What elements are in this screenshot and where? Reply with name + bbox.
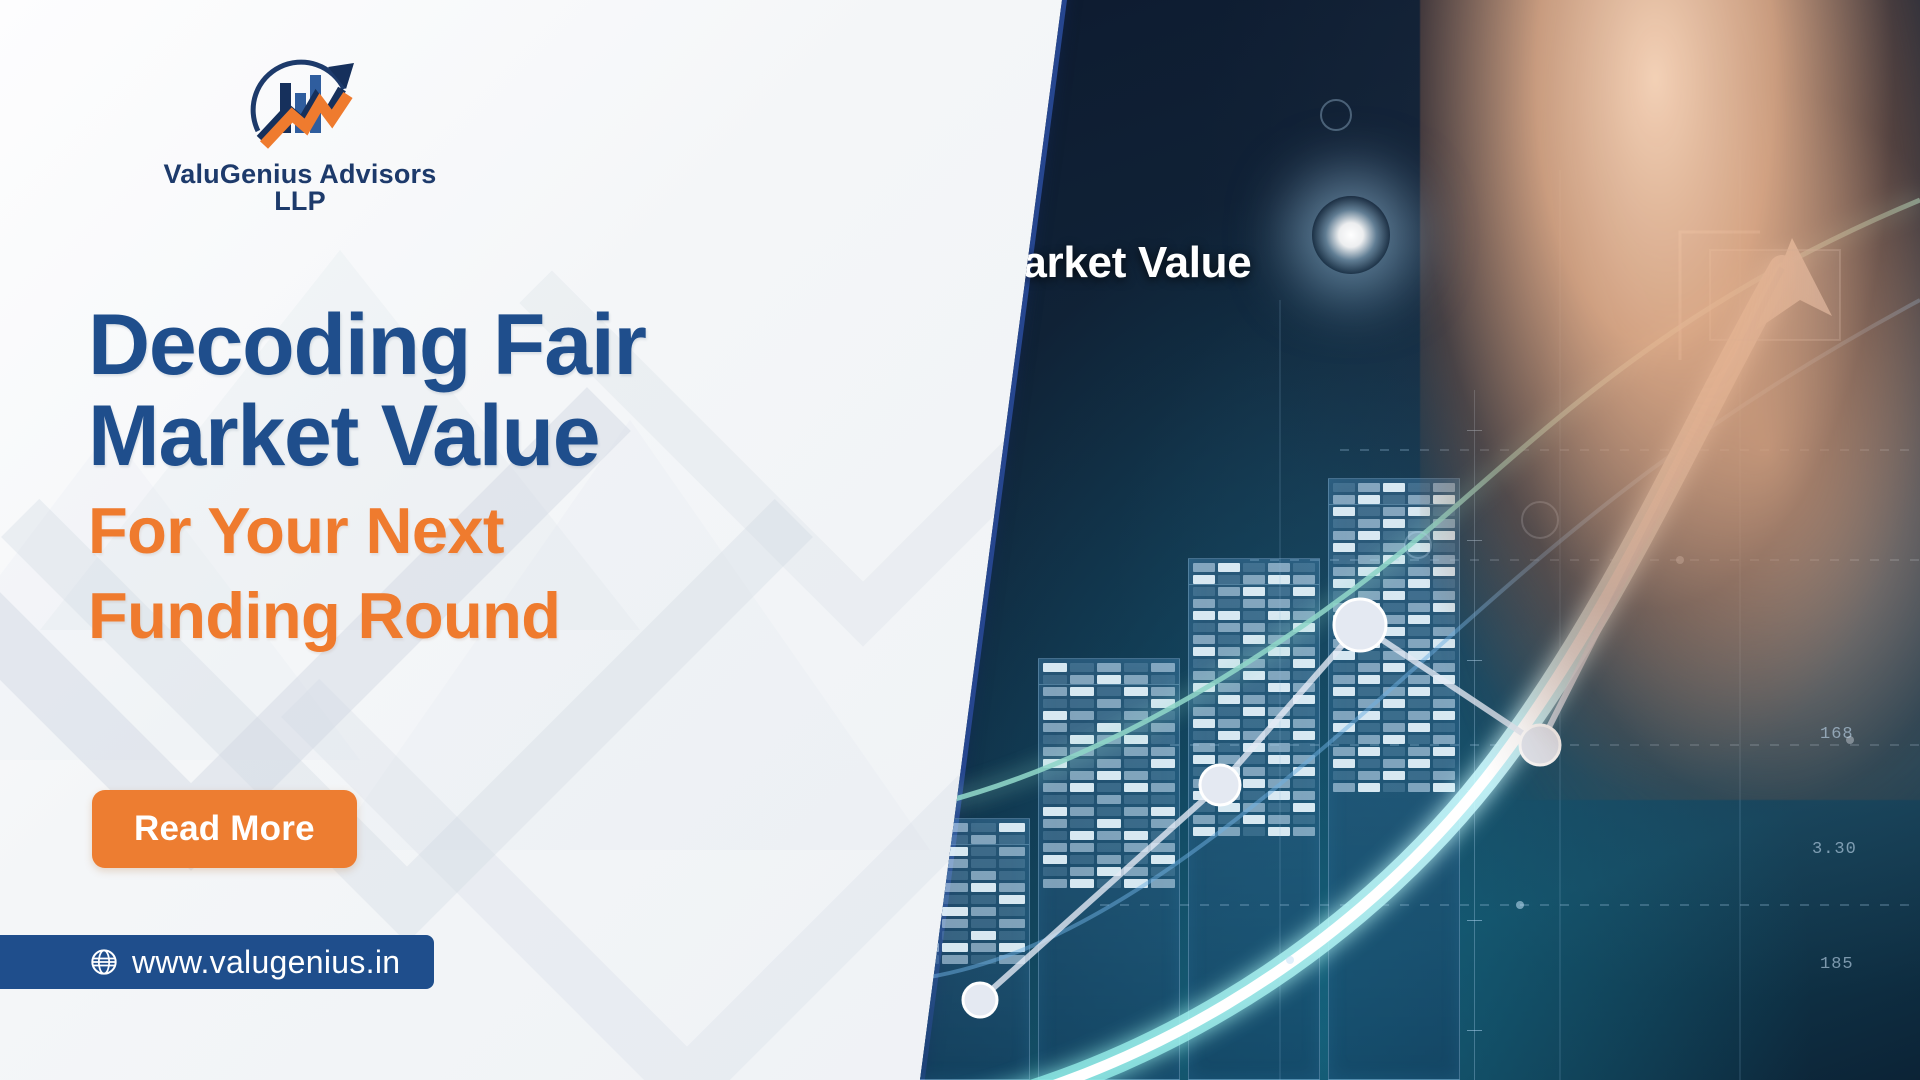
globe-icon bbox=[90, 948, 118, 976]
promo-banner: ValuGenius Advisors LLP Decoding Fair Ma… bbox=[0, 0, 1920, 1080]
brand-logo[interactable]: ValuGenius Advisors LLP bbox=[140, 45, 460, 215]
headline-line-1: Decoding Fair bbox=[88, 300, 828, 391]
glow-burst-icon bbox=[1312, 196, 1390, 274]
headline-line-2: Market Value bbox=[88, 391, 828, 482]
website-url-bar[interactable]: www.valugenius.in bbox=[0, 935, 434, 989]
subheadline-line-1: For Your Next bbox=[88, 496, 828, 566]
hand-pointing-finger-icon bbox=[1420, 0, 1920, 800]
subheadline-line-2: Funding Round bbox=[88, 581, 828, 651]
axis-number: 168 bbox=[1820, 725, 1854, 744]
hero-image-panel: Market Value 168 3.30 185 bbox=[920, 0, 1920, 1080]
read-more-button[interactable]: Read More bbox=[92, 790, 357, 868]
headline-block: Decoding Fair Market Value For Your Next… bbox=[88, 300, 828, 651]
axis-number: 3.30 bbox=[1812, 840, 1857, 859]
website-url: www.valugenius.in bbox=[132, 944, 400, 981]
bar-chart-growth-arrow-logo-icon bbox=[236, 45, 364, 155]
axis-number: 185 bbox=[1820, 955, 1854, 974]
brand-name: ValuGenius Advisors LLP bbox=[140, 161, 460, 215]
